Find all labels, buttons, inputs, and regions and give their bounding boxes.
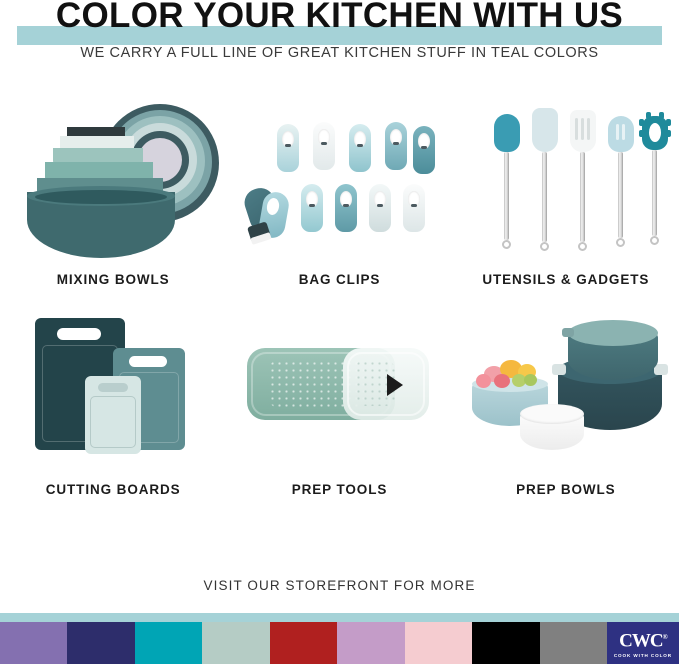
logo-wordmark: CWC® (619, 628, 667, 650)
product-label: PREP TOOLS (292, 482, 388, 497)
product-label: UTENSILS & GADGETS (482, 272, 649, 287)
product-cell-prep-bowls[interactable]: PREP BOWLS (453, 306, 679, 536)
product-cell-cutting-boards[interactable]: CUTTING BOARDS (0, 306, 226, 536)
product-grid: MIXING BOWLS (0, 96, 679, 536)
product-cell-mixing-bowls[interactable]: MIXING BOWLS (0, 96, 226, 306)
swatch-orchid (337, 622, 404, 664)
color-swatch-strip: CWC® COOK WITH COLOR (0, 622, 679, 664)
swatch-teal (135, 622, 202, 664)
swatch-gray (540, 622, 607, 664)
product-label: BAG CLIPS (299, 272, 381, 287)
bag-clips-photo[interactable] (239, 96, 439, 264)
logo-tagline: COOK WITH COLOR (614, 653, 672, 658)
mixing-bowls-photo[interactable] (13, 96, 213, 264)
cutting-boards-photo[interactable] (13, 306, 213, 474)
storefront-cta[interactable]: VISIT OUR STOREFRONT FOR MORE (0, 578, 679, 593)
poster-canvas: COLOR YOUR KITCHEN WITH US WE CARRY A FU… (0, 0, 679, 664)
product-cell-bag-clips[interactable]: BAG CLIPS (226, 96, 452, 306)
brand-logo[interactable]: CWC® COOK WITH COLOR (607, 622, 679, 664)
prep-tools-photo[interactable] (239, 306, 439, 474)
swatch-red (270, 622, 337, 664)
logo-mark-text: CWC (619, 631, 662, 652)
swatch-purple (0, 622, 67, 664)
page-subtitle: WE CARRY A FULL LINE OF GREAT KITCHEN ST… (0, 45, 679, 61)
page-title: COLOR YOUR KITCHEN WITH US (0, 0, 679, 36)
swatch-navy (67, 622, 134, 664)
product-label: CUTTING BOARDS (46, 482, 181, 497)
swatch-sage (202, 622, 269, 664)
utensils-gadgets-photo[interactable] (466, 96, 666, 264)
swatch-black (472, 622, 539, 664)
footer-teal-rule (0, 613, 679, 622)
prep-bowls-photo[interactable] (466, 306, 666, 474)
swatch-pink (405, 622, 472, 664)
product-cell-utensils-gadgets[interactable]: UTENSILS & GADGETS (453, 96, 679, 306)
header: COLOR YOUR KITCHEN WITH US WE CARRY A FU… (0, 0, 679, 72)
product-label: MIXING BOWLS (57, 272, 170, 287)
play-icon[interactable] (387, 374, 403, 396)
product-label: PREP BOWLS (516, 482, 616, 497)
registered-mark: ® (663, 633, 667, 641)
product-cell-prep-tools[interactable]: PREP TOOLS (226, 306, 452, 536)
